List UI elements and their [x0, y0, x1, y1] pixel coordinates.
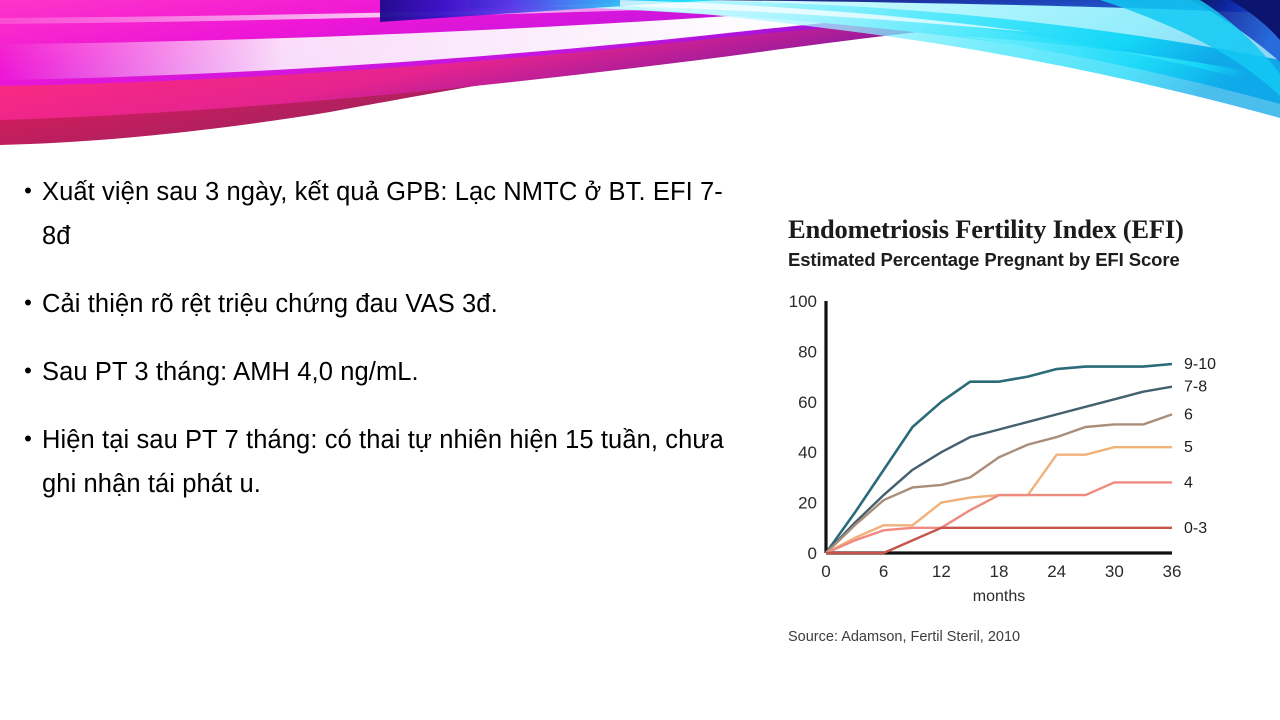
x-tick-label: 36 — [1163, 562, 1182, 581]
list-item: • Cải thiện rõ rệt triệu chứng đau VAS 3… — [14, 282, 734, 326]
series-label-0-3: 0-3 — [1184, 520, 1207, 537]
series-line-4 — [826, 482, 1172, 553]
x-axis-label: months — [973, 588, 1025, 605]
chart-subtitle: Estimated Percentage Pregnant by EFI Sco… — [788, 249, 1246, 271]
y-tick-label: 40 — [798, 443, 817, 462]
x-tick-label: 0 — [821, 562, 830, 581]
banner-graphic — [0, 0, 1280, 145]
x-tick-label: 18 — [990, 562, 1009, 581]
x-tick-label: 30 — [1105, 562, 1124, 581]
y-tick-label: 100 — [789, 292, 817, 311]
series-label-9-10: 9-10 — [1184, 356, 1216, 373]
list-item: • Sau PT 3 tháng: AMH 4,0 ng/mL. — [14, 350, 734, 394]
bullet-marker: • — [14, 282, 42, 323]
list-item-text: Cải thiện rõ rệt triệu chứng đau VAS 3đ. — [42, 282, 734, 326]
chart-series-labels: 9-107-86540-3 — [1184, 356, 1216, 537]
x-tick-label: 6 — [879, 562, 888, 581]
series-label-6: 6 — [1184, 406, 1193, 423]
chart-title: Endometriosis Fertility Index (EFI) — [788, 214, 1246, 245]
list-item-text: Xuất viện sau 3 ngày, kết quả GPB: Lạc N… — [42, 170, 734, 258]
chart-series-group — [826, 364, 1172, 553]
list-item: • Xuất viện sau 3 ngày, kết quả GPB: Lạc… — [14, 170, 734, 258]
list-item-text: Hiện tại sau PT 7 tháng: có thai tự nhiê… — [42, 418, 734, 506]
list-item-text: Sau PT 3 tháng: AMH 4,0 ng/mL. — [42, 350, 734, 394]
y-axis-ticks: 020406080100 — [789, 292, 817, 563]
chart-svg: 020406080100 061218243036 9-107-86540-3 … — [776, 281, 1246, 611]
chart-plot-area: 020406080100 061218243036 9-107-86540-3 … — [776, 281, 1246, 611]
y-tick-label: 60 — [798, 393, 817, 412]
x-tick-label: 24 — [1047, 562, 1066, 581]
decorative-wave-banner — [0, 0, 1280, 145]
bullet-marker: • — [14, 418, 42, 459]
y-tick-label: 0 — [808, 544, 817, 563]
series-label-4: 4 — [1184, 474, 1193, 491]
bullet-marker: • — [14, 350, 42, 391]
y-tick-label: 80 — [798, 342, 817, 361]
series-label-7-8: 7-8 — [1184, 379, 1207, 396]
x-axis-ticks: 061218243036 — [821, 562, 1181, 581]
list-item: • Hiện tại sau PT 7 tháng: có thai tự nh… — [14, 418, 734, 506]
bullet-list: • Xuất viện sau 3 ngày, kết quả GPB: Lạc… — [14, 170, 734, 530]
x-tick-label: 12 — [932, 562, 951, 581]
series-label-5: 5 — [1184, 439, 1193, 456]
bullet-marker: • — [14, 170, 42, 211]
chart-source-note: Source: Adamson, Fertil Steril, 2010 — [788, 629, 1246, 645]
y-tick-label: 20 — [798, 494, 817, 513]
efi-chart-figure: Endometriosis Fertility Index (EFI) Esti… — [776, 214, 1246, 694]
